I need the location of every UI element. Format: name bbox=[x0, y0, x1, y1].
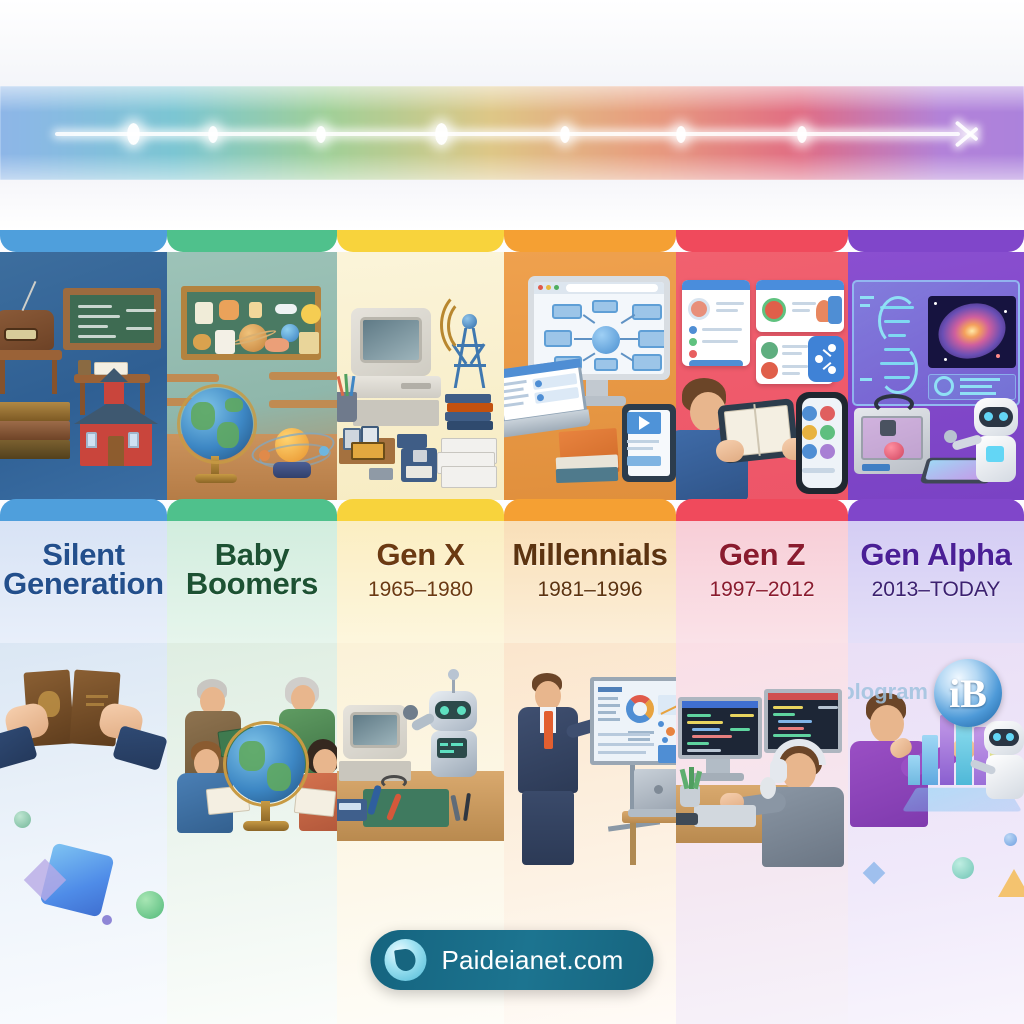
accent-cap-bottom bbox=[676, 499, 848, 521]
child-head bbox=[870, 705, 904, 743]
printer-cable bbox=[874, 394, 914, 414]
profile-avatar bbox=[688, 298, 710, 320]
video-thumbnail bbox=[627, 412, 661, 434]
generation-years: 1981–1996 bbox=[537, 578, 642, 602]
accent-cap-top bbox=[0, 230, 167, 252]
bulletin-board bbox=[181, 286, 321, 360]
accent-cap-bottom bbox=[0, 499, 167, 521]
generation-column-genalpha[interactable]: Gen Alpha 2013–TODAY Hologram iB bbox=[848, 230, 1024, 1024]
deco-diamond-blue bbox=[863, 862, 886, 885]
tablet bbox=[622, 404, 676, 482]
generation-years: 1997–2012 bbox=[709, 578, 814, 602]
deco-sphere-green-2 bbox=[136, 891, 164, 919]
label-millennials: Millennials 1981–1996 bbox=[504, 521, 676, 643]
timeline-dot-5[interactable] bbox=[560, 126, 570, 143]
accent-cap-bottom bbox=[337, 499, 504, 521]
circular-gauge bbox=[934, 376, 954, 396]
computer-base bbox=[345, 376, 441, 398]
label-genx: Gen X 1965–1980 bbox=[337, 521, 504, 643]
accent-cap-top bbox=[337, 230, 504, 252]
chalkboard bbox=[63, 288, 161, 350]
red-schoolhouse bbox=[80, 422, 152, 466]
vintage-radio bbox=[0, 310, 54, 350]
accent-cap-top bbox=[676, 230, 848, 252]
scene-silent-classroom bbox=[0, 252, 167, 500]
generation-column-boomers[interactable]: Baby Boomers bbox=[167, 230, 337, 1024]
presenter-tie bbox=[544, 711, 553, 749]
scene-genalpha-future bbox=[848, 252, 1024, 500]
whiteboard bbox=[590, 677, 676, 765]
deco-sphere-blue bbox=[1004, 833, 1017, 846]
generation-years: 1965–1980 bbox=[368, 578, 473, 602]
social-profile-card bbox=[682, 280, 750, 366]
toy-robot-body bbox=[431, 731, 477, 777]
print-head bbox=[880, 420, 896, 436]
holographic-display bbox=[852, 280, 1020, 406]
butterfly-cutout bbox=[193, 334, 211, 350]
timeline-line bbox=[55, 132, 960, 136]
map-cutout bbox=[215, 330, 235, 354]
elder-woman-head bbox=[291, 685, 315, 712]
generation-column-genz[interactable]: Gen Z 1997–2012 bbox=[676, 230, 848, 1024]
crt-monitor bbox=[351, 308, 431, 376]
wire bbox=[381, 775, 407, 789]
scene-genx-tech bbox=[337, 252, 504, 500]
dna-helix bbox=[876, 292, 920, 396]
scene-genz-social bbox=[676, 252, 848, 500]
deco-sphere-violet bbox=[102, 915, 112, 925]
generation-column-silent[interactable]: Silent Generation bbox=[0, 230, 167, 1024]
label-genz: Gen Z 1997–2012 bbox=[676, 521, 848, 643]
brand-logo-icon bbox=[384, 939, 426, 981]
share-card bbox=[808, 336, 844, 382]
signal-wave-2 bbox=[440, 289, 498, 361]
generation-name: Gen Z bbox=[719, 539, 805, 571]
generation-column-millennials[interactable]: Millennials 1981–1996 bbox=[504, 230, 676, 1024]
galaxy bbox=[932, 296, 1012, 366]
cassette-tape bbox=[351, 442, 385, 460]
smartphone bbox=[796, 392, 848, 494]
timeline-dot-4[interactable] bbox=[435, 123, 448, 145]
deco-sphere-teal bbox=[952, 857, 974, 879]
generation-column-genx[interactable]: Gen X 1965–1980 bbox=[337, 230, 504, 1024]
deco-sphere-green bbox=[14, 811, 31, 828]
brand-badge[interactable]: Paideianet.com bbox=[370, 930, 653, 990]
generation-name: Millennials bbox=[512, 539, 667, 571]
small-disk bbox=[369, 468, 393, 480]
girl-head bbox=[313, 749, 337, 776]
bottom-scene-boomers bbox=[167, 643, 337, 1024]
deco-hexagon-orange bbox=[998, 869, 1024, 897]
ib-watermark-badge: iB bbox=[934, 659, 1002, 727]
bottom-scene-genalpha: Hologram iB bbox=[848, 643, 1024, 1024]
generation-years: 2013–TODAY bbox=[872, 578, 1001, 602]
sun-cutout bbox=[301, 304, 321, 324]
family-globe-ring bbox=[223, 721, 309, 807]
cloud-cutout bbox=[275, 304, 297, 314]
label-silent: Silent Generation bbox=[0, 521, 167, 643]
top-whitespace bbox=[0, 0, 1024, 86]
book-stack bbox=[0, 402, 70, 421]
retro-computer bbox=[343, 705, 407, 759]
timeline-dot-7[interactable] bbox=[797, 126, 807, 143]
accent-cap-bottom bbox=[848, 499, 1024, 521]
phone-on-desk bbox=[676, 813, 698, 825]
timeline-arrow-icon bbox=[956, 116, 982, 152]
side-table bbox=[0, 350, 62, 360]
gauge-widget bbox=[658, 745, 676, 763]
timeline-dot-6[interactable] bbox=[676, 126, 686, 143]
keyboard bbox=[694, 805, 756, 827]
brand-name: Paideianet.com bbox=[441, 945, 623, 976]
infographic-canvas: Silent Generation bbox=[0, 0, 1024, 1024]
pencil-cup bbox=[337, 392, 357, 422]
generation-columns: Silent Generation bbox=[0, 230, 1024, 1024]
generation-name: Gen Alpha bbox=[860, 539, 1011, 571]
accent-cap-bottom bbox=[504, 499, 676, 521]
watermark-faint-text: Hologram bbox=[848, 679, 928, 705]
accent-cap-top bbox=[167, 230, 337, 252]
pencil-cup bbox=[78, 360, 91, 375]
floppy-disk-stack bbox=[445, 394, 491, 403]
bottom-scene-silent bbox=[0, 643, 167, 1024]
timeline-dot-1[interactable] bbox=[127, 123, 140, 145]
galaxy-panel bbox=[928, 296, 1016, 368]
app-icon bbox=[802, 406, 817, 421]
accent-cap-bottom bbox=[167, 499, 337, 521]
label-genalpha: Gen Alpha 2013–TODAY bbox=[848, 521, 1024, 643]
mouse bbox=[760, 777, 776, 799]
generation-name-2: Boomers bbox=[186, 568, 318, 600]
accent-cap-top bbox=[848, 230, 1024, 252]
network-node bbox=[552, 304, 582, 319]
robot-torso bbox=[976, 436, 1016, 482]
solar-model-base bbox=[273, 462, 311, 478]
floppy-slot bbox=[401, 383, 431, 389]
reader-hand bbox=[716, 440, 744, 462]
network-hub-icon bbox=[592, 326, 620, 354]
alpha-robot-head bbox=[984, 721, 1024, 755]
globe-meridian bbox=[177, 384, 257, 464]
chart-cutout bbox=[299, 332, 319, 354]
social-feed-card bbox=[756, 280, 844, 332]
timeline-dot-3[interactable] bbox=[316, 126, 326, 143]
leaf-drop-icon bbox=[394, 948, 417, 973]
3d-printer bbox=[854, 408, 930, 474]
floppy-disk bbox=[401, 448, 437, 482]
generation-timeline bbox=[0, 86, 1024, 180]
keyboard bbox=[353, 400, 439, 426]
generation-name-2: Generation bbox=[3, 568, 164, 600]
holo-building bbox=[922, 735, 938, 785]
label-boomers: Baby Boomers bbox=[167, 521, 337, 643]
starfish-cutout bbox=[265, 338, 289, 352]
scene-boomers-classroom bbox=[167, 252, 337, 500]
robot-head bbox=[974, 398, 1018, 436]
toy-robot-head bbox=[429, 691, 477, 731]
bottom-scene-genz bbox=[676, 643, 848, 1024]
timeline-gap bbox=[0, 180, 1024, 230]
right-sleeve bbox=[112, 725, 167, 771]
accent-cap-top bbox=[504, 230, 676, 252]
printed-object bbox=[884, 442, 904, 460]
code-monitor-left bbox=[678, 697, 762, 759]
scene-millennials-web bbox=[504, 252, 676, 500]
timeline-dot-2[interactable] bbox=[208, 126, 218, 143]
girl-book bbox=[294, 787, 336, 817]
presenter-legs bbox=[522, 791, 574, 865]
radio-antenna bbox=[22, 281, 37, 311]
generation-name: Gen X bbox=[376, 539, 464, 571]
alpha-robot-torso bbox=[986, 755, 1024, 799]
donut-chart bbox=[626, 695, 654, 723]
contacts-icon bbox=[828, 296, 842, 324]
